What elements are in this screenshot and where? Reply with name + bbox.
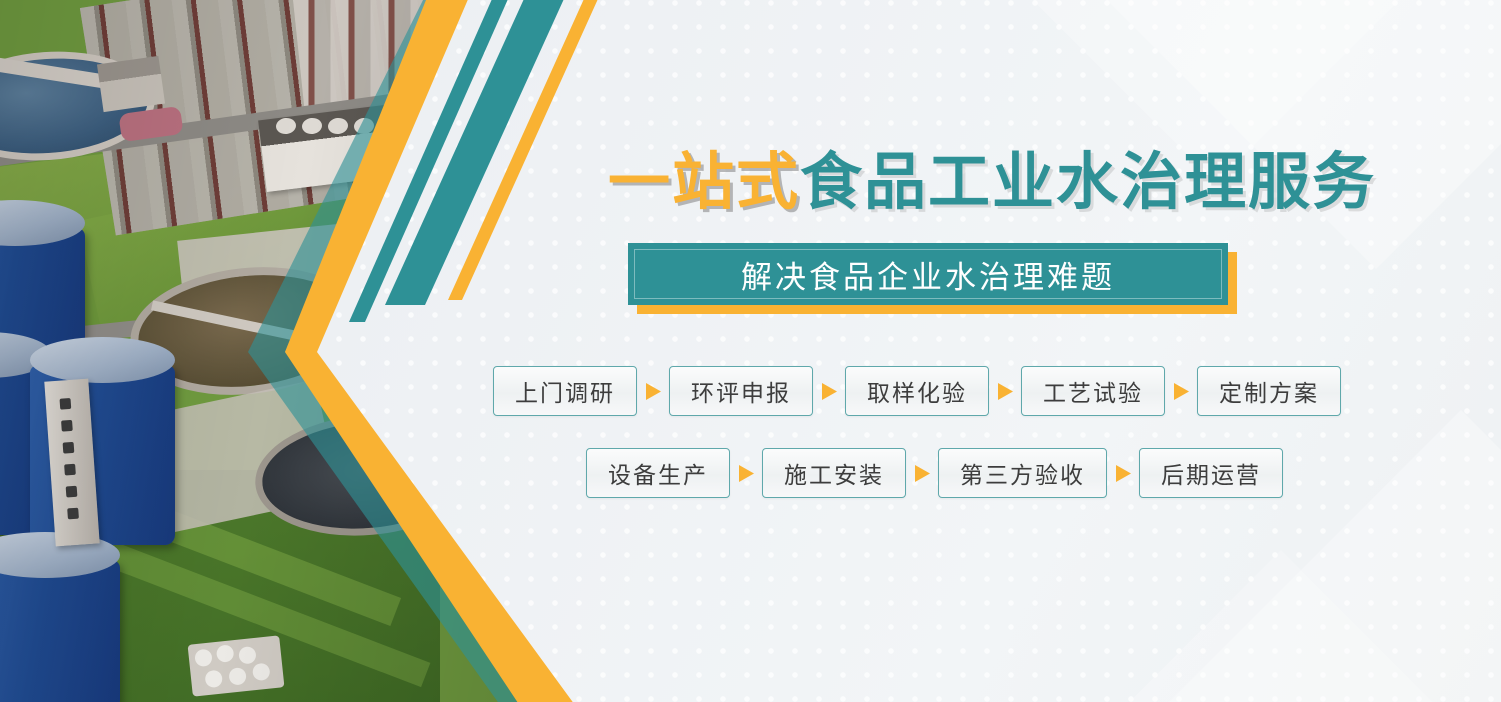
headline-rest: 食品工业水治理服务 xyxy=(800,148,1376,217)
headline-highlight: 一站式 xyxy=(608,148,800,217)
process-step-gongyi-shiyan[interactable]: 工艺试验 xyxy=(1021,366,1165,416)
process-step-label: 施工安装 xyxy=(784,456,884,490)
promo-banner: 一站式食品工业水治理服务 解决食品企业水治理难题 上门调研 环评申报 取样化验 xyxy=(0,0,1501,702)
process-step-label: 工艺试验 xyxy=(1043,374,1143,408)
process-step-label: 定制方案 xyxy=(1219,374,1319,408)
process-step-label: 取样化验 xyxy=(867,374,967,408)
triangle-right-icon xyxy=(906,464,938,483)
process-step-disanfang-yanshou[interactable]: 第三方验收 xyxy=(938,448,1107,498)
subtitle-bar: 解决食品企业水治理难题 xyxy=(628,243,1228,305)
subtitle-text: 解决食品企业水治理难题 xyxy=(741,252,1115,297)
process-step-label: 第三方验收 xyxy=(960,456,1085,490)
process-step-shangmen-diaoyan[interactable]: 上门调研 xyxy=(493,366,637,416)
process-step-quyang-huayan[interactable]: 取样化验 xyxy=(845,366,989,416)
process-step-label: 上门调研 xyxy=(515,374,615,408)
triangle-right-icon xyxy=(1165,382,1197,401)
process-step-label: 环评申报 xyxy=(691,374,791,408)
page-title: 一站式食品工业水治理服务 xyxy=(608,152,1376,214)
triangle-right-icon xyxy=(730,464,762,483)
process-step-label: 后期运营 xyxy=(1161,456,1261,490)
process-step-houqi-yunying[interactable]: 后期运营 xyxy=(1139,448,1283,498)
process-row-1: 上门调研 环评申报 取样化验 工艺试验 xyxy=(493,366,1341,416)
process-step-dingzhi-fangan[interactable]: 定制方案 xyxy=(1197,366,1341,416)
triangle-right-icon xyxy=(813,382,845,401)
process-step-shebei-shengchan[interactable]: 设备生产 xyxy=(586,448,730,498)
process-step-shigong-anzhuang[interactable]: 施工安装 xyxy=(762,448,906,498)
process-step-huanping-shenbao[interactable]: 环评申报 xyxy=(669,366,813,416)
subtitle-banner: 解决食品企业水治理难题 xyxy=(628,243,1228,305)
process-step-label: 设备生产 xyxy=(608,456,708,490)
process-row-2: 设备生产 施工安装 第三方验收 后期运营 xyxy=(586,448,1283,498)
triangle-right-icon xyxy=(637,382,669,401)
triangle-right-icon xyxy=(989,382,1021,401)
triangle-right-icon xyxy=(1107,464,1139,483)
